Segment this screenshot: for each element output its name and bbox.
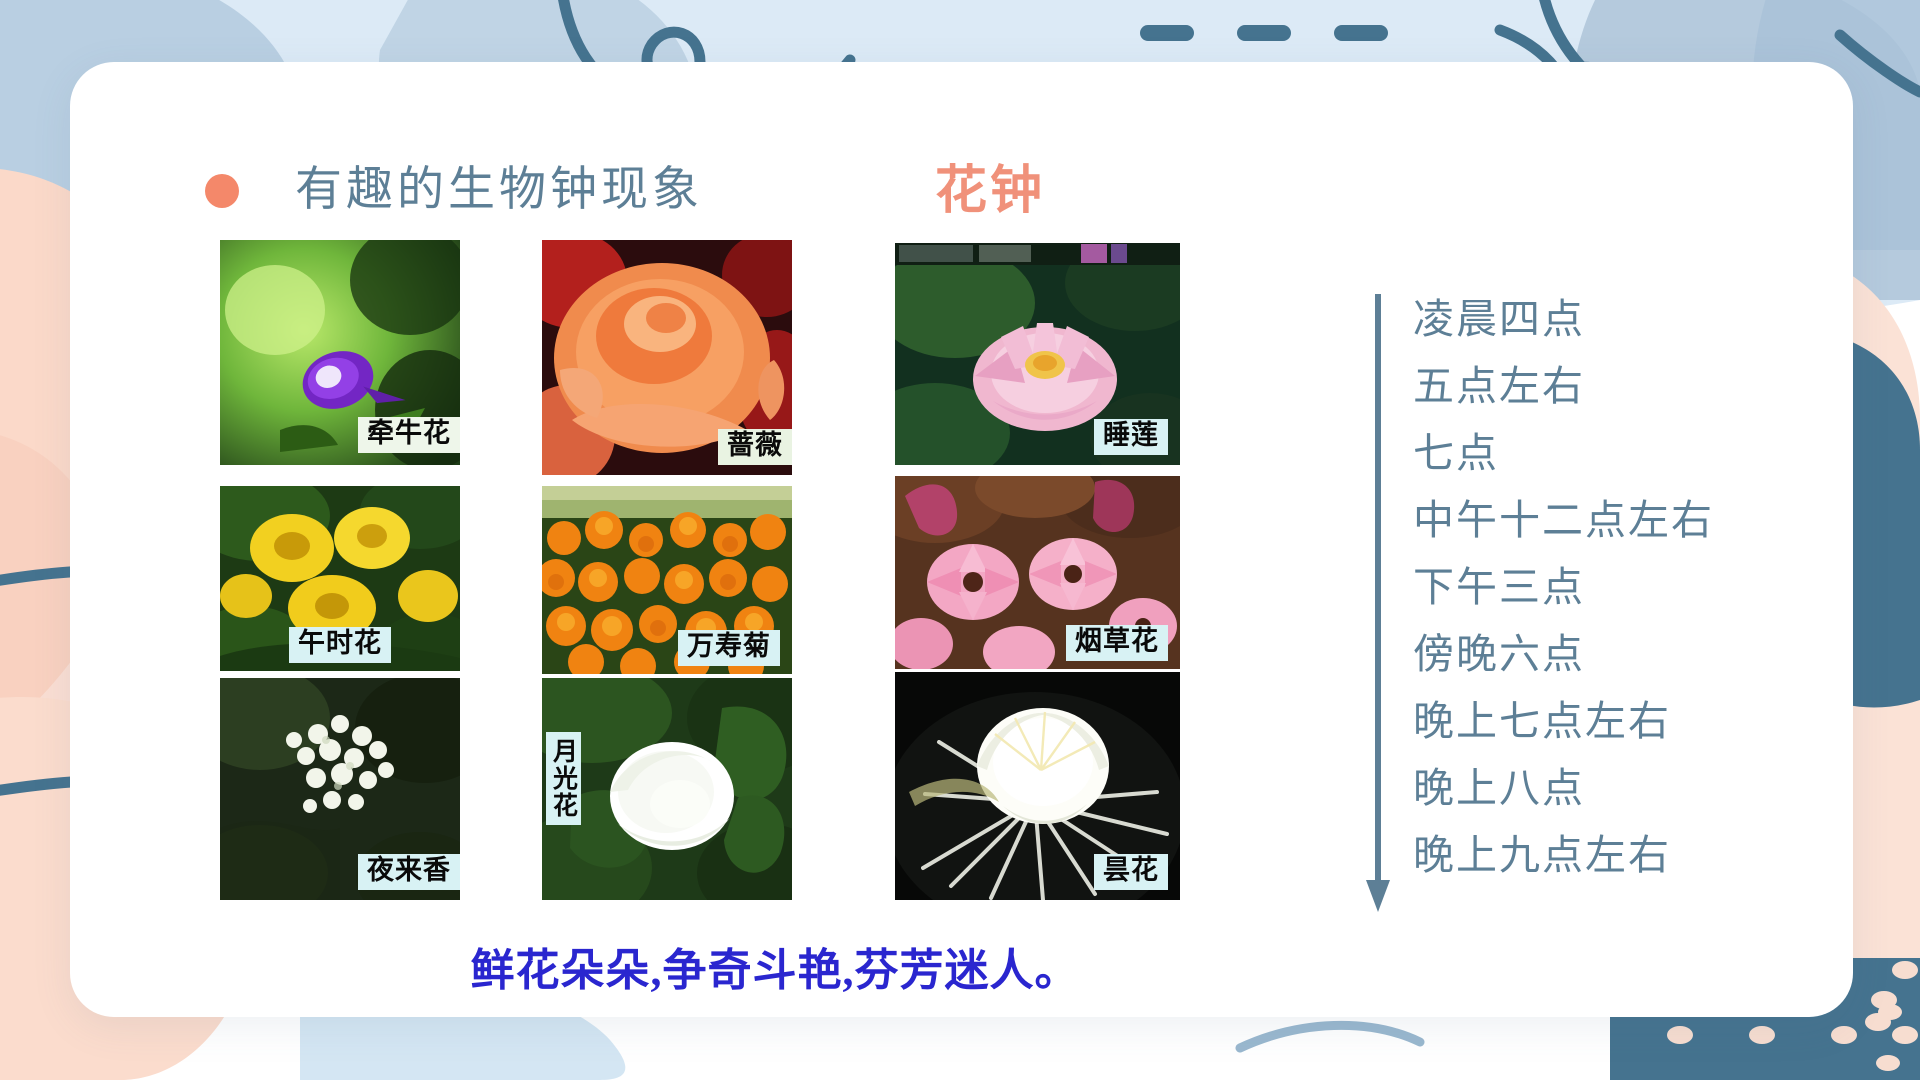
- time-item: 五点左右: [1413, 353, 1803, 420]
- slide-card: 有趣的生物钟现象 花钟: [70, 62, 1853, 1017]
- photo-label-epiphyllum: 昙花: [1094, 854, 1168, 890]
- time-column: 凌晨四点 五点左右 七点 中午十二点左右 下午三点 傍晚六点 晚上七点左右 晚上…: [1365, 294, 1795, 914]
- photo-frame: 牵牛花: [220, 240, 460, 465]
- photo-cell-marigold[interactable]: 万寿菊: [542, 486, 792, 674]
- page-subtitle: 有趣的生物钟现象: [295, 150, 703, 219]
- time-list: 凌晨四点 五点左右 七点 中午十二点左右 下午三点 傍晚六点 晚上七点左右 晚上…: [1413, 286, 1803, 889]
- slide-caption: 鲜花朵朵,争奇斗艳,芬芳迷人。: [220, 934, 1330, 998]
- time-item: 晚上八点: [1413, 755, 1803, 822]
- photo-label-rose: 蔷薇: [718, 429, 792, 465]
- photo-cell-morning-glory[interactable]: 牵牛花: [220, 240, 460, 465]
- photo-label-tuberose: 夜来香: [358, 854, 460, 890]
- photo-cell-noon-flower[interactable]: 午时花: [220, 486, 460, 671]
- photo-label-morning-glory: 牵牛花: [358, 417, 460, 453]
- time-item: 下午三点: [1413, 554, 1803, 621]
- photo-frame: 午时花: [220, 486, 460, 671]
- photo-cell-water-lily[interactable]: 睡莲: [895, 243, 1180, 465]
- page-title: 花钟: [935, 148, 1045, 223]
- photo-label-marigold: 万寿菊: [678, 630, 780, 666]
- photo-label-moonflower: 月光花: [546, 732, 581, 825]
- photo-frame: 万寿菊: [542, 486, 792, 674]
- photo-frame: 昙花: [895, 672, 1180, 900]
- photo-frame: 烟草花: [895, 476, 1180, 669]
- time-item: 七点: [1413, 420, 1803, 487]
- time-item: 中午十二点左右: [1413, 487, 1803, 554]
- down-arrow-icon: [1365, 294, 1391, 914]
- photo-label-tobacco-flower: 烟草花: [1066, 625, 1168, 661]
- photo-frame: 夜来香: [220, 678, 460, 900]
- photo-frame: 睡莲: [895, 243, 1180, 465]
- photo-frame: 月光花: [542, 678, 792, 900]
- flower-photo-grid: 牵牛花: [220, 240, 1330, 900]
- photo-cell-epiphyllum[interactable]: 昙花: [895, 672, 1180, 900]
- time-item: 凌晨四点: [1413, 286, 1803, 353]
- photo-label-noon-flower: 午时花: [289, 627, 391, 663]
- photo-cell-moonflower[interactable]: 月光花: [542, 678, 792, 900]
- dot-icon: [205, 174, 239, 208]
- photo-label-water-lily: 睡莲: [1094, 419, 1168, 455]
- time-item: 傍晚六点: [1413, 621, 1803, 688]
- slide-header: 有趣的生物钟现象 花钟: [70, 62, 1853, 182]
- slide-stage: 有趣的生物钟现象 花钟: [0, 0, 1920, 1080]
- time-item: 晚上九点左右: [1413, 822, 1803, 889]
- time-item: 晚上七点左右: [1413, 688, 1803, 755]
- photo-cell-tuberose[interactable]: 夜来香: [220, 678, 460, 900]
- photo-cell-tobacco-flower[interactable]: 烟草花: [895, 476, 1180, 669]
- photo-frame: 蔷薇: [542, 240, 792, 475]
- photo-cell-rose[interactable]: 蔷薇: [542, 240, 792, 475]
